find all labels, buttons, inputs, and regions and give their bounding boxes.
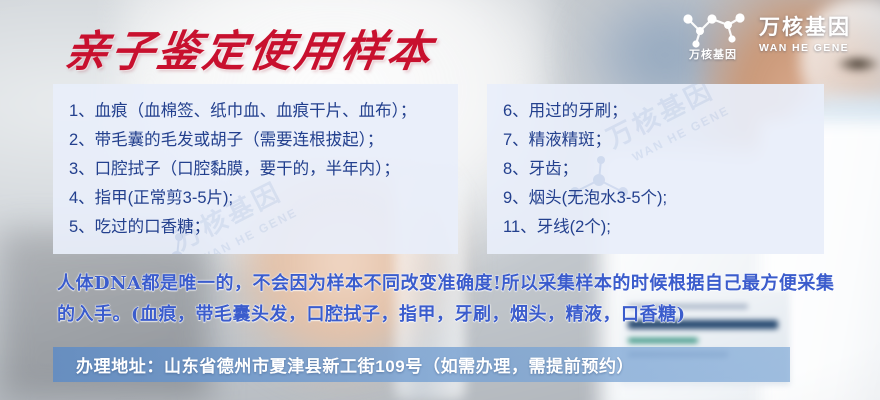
sample-list-left: 1、血痕（血棉签、纸巾血、血痕干片、血布）； 2、带毛囊的毛发或胡子（需要连根拔…: [53, 84, 458, 242]
note-paragraph: 人体DNA都是唯一的，不会因为样本不同改变准确度!所以采集样本的时候根据自己最方…: [57, 268, 843, 330]
list-item: 6、用过的牙刷；: [503, 97, 824, 126]
poster-canvas: 万核基因 万核基因 WAN HE GENE 亲子鉴定使用样本 万核基因 WAN …: [0, 0, 880, 400]
sample-list-right: 6、用过的牙刷； 7、精液精斑； 8、牙齿； 9、烟头(无泡水3-5个); 11…: [487, 84, 824, 242]
list-item: 5、吃过的口香糖；: [69, 213, 458, 242]
list-item: 9、烟头(无泡水3-5个);: [503, 184, 824, 213]
logo-mark-label: 万核基因: [676, 46, 750, 62]
address-bar: 办理地址：山东省德州市夏津县新工街109号（如需办理，需提前预约）: [53, 347, 790, 382]
brand-name-cn: 万核基因: [759, 17, 851, 38]
list-item: 1、血痕（血棉签、纸巾血、血痕干片、血布）；: [69, 97, 458, 126]
molecule-node-icon: 万核基因: [676, 11, 750, 61]
brand-logo-text: 万核基因 WAN HE GENE: [759, 17, 851, 56]
list-item: 2、带毛囊的毛发或胡子（需要连根拔起）；: [69, 126, 458, 155]
sample-list-panel-left: 万核基因 WAN HE GENE 1、血痕（血棉签、纸巾血、血痕干片、血布）； …: [53, 84, 458, 254]
note-line-1: 人体DNA都是唯一的，不会因为样本不同改变准确度!所以采集样本的时候根据自己最方…: [57, 268, 843, 299]
address-text: 办理地址：山东省德州市夏津县新工街109号（如需办理，需提前预约）: [53, 352, 634, 377]
sample-list-panel-right: 万核基因 WAN HE GENE 6、用过的牙刷； 7、精液精斑； 8、牙齿； …: [487, 84, 824, 254]
list-item: 8、牙齿；: [503, 155, 824, 184]
brand-logo: 万核基因 万核基因 WAN HE GENE: [676, 8, 874, 64]
page-title: 亲子鉴定使用样本: [61, 17, 439, 79]
list-item: 4、指甲(正常剪3-5片);: [69, 184, 458, 213]
list-item: 11、牙线(2个);: [503, 213, 824, 242]
note-line-2: 的入手。(血痕，带毛囊头发，口腔拭子，指甲，牙刷，烟头，精液，口香糖): [57, 299, 843, 330]
list-item: 7、精液精斑；: [503, 126, 824, 155]
list-item: 3、口腔拭子（口腔黏膜，要干的，半年内）；: [69, 155, 458, 184]
brand-name-en: WAN HE GENE: [759, 43, 851, 54]
